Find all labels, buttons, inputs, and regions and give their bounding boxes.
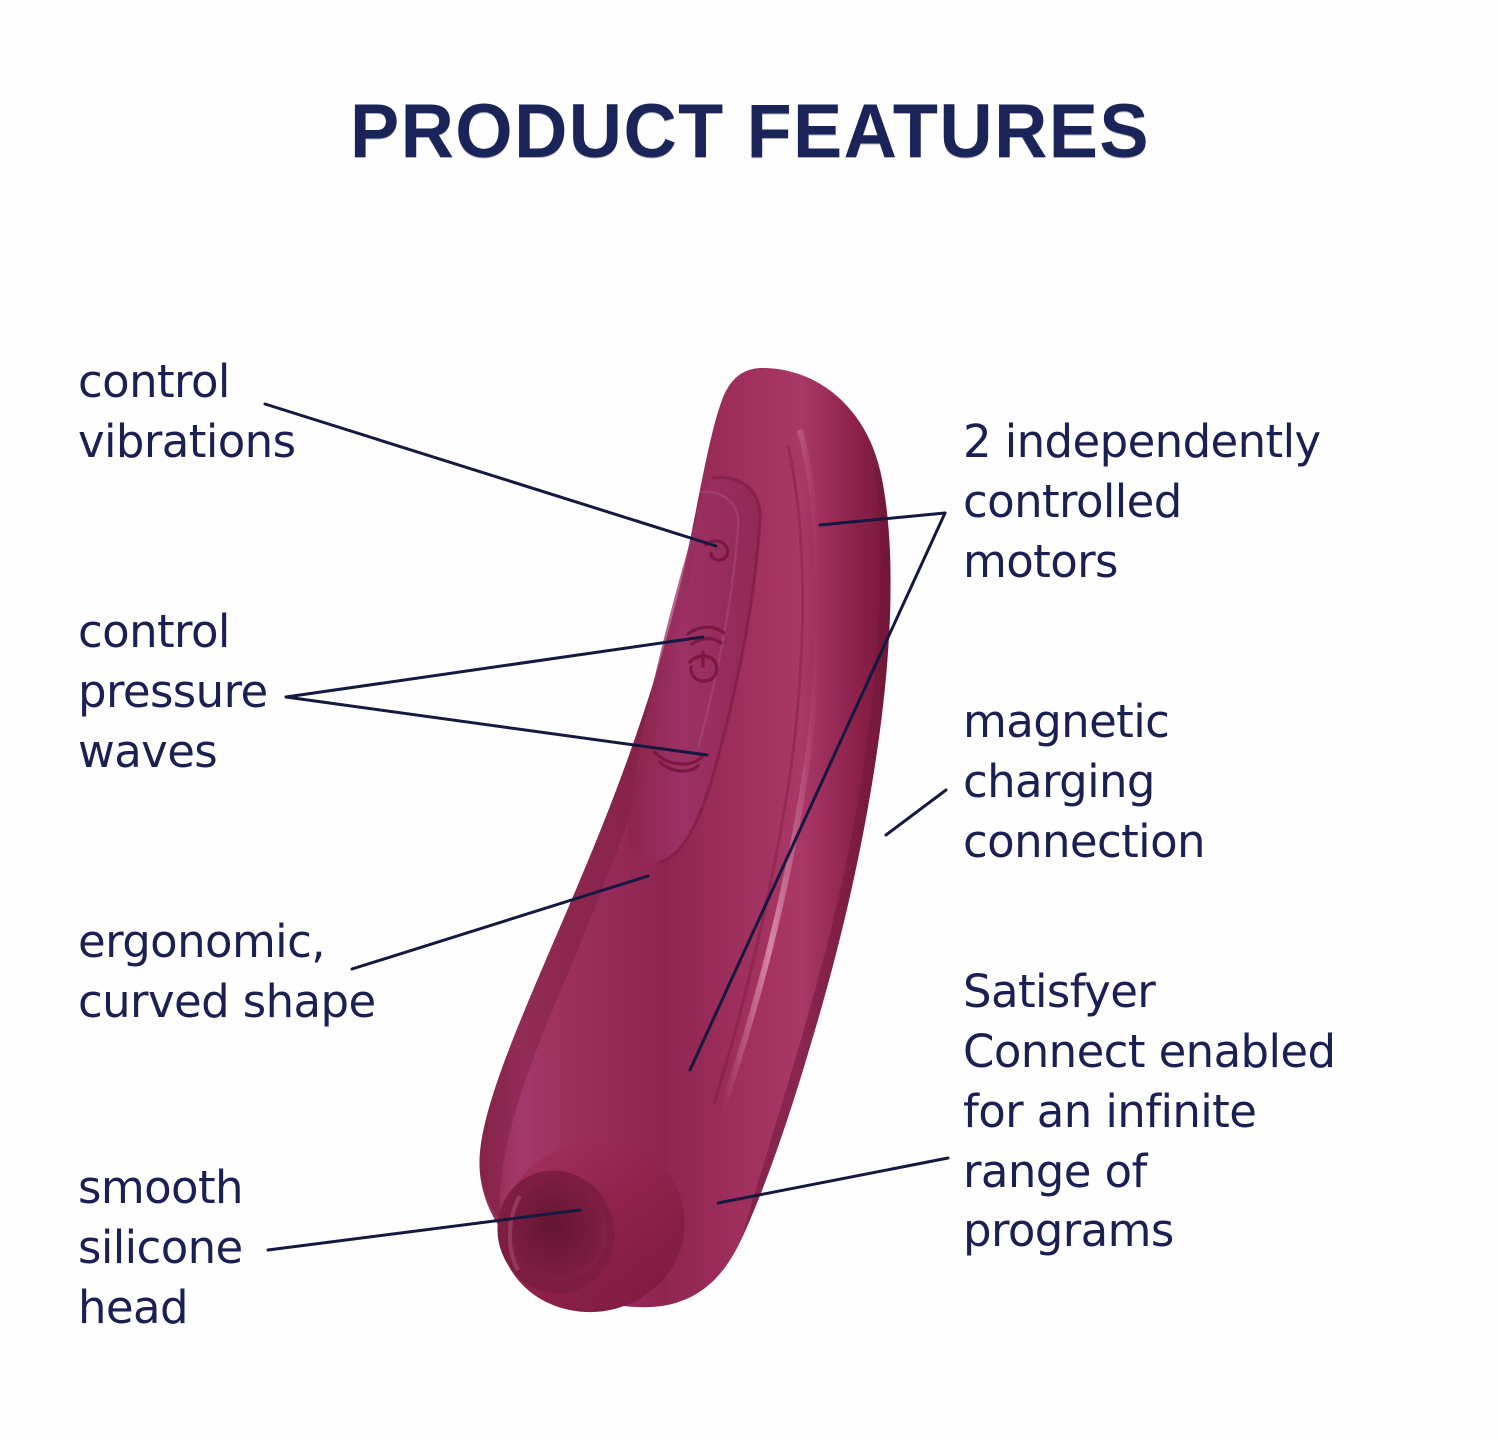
- label-ergonomic-curved-shape: ergonomic, curved shape: [78, 912, 376, 1032]
- label-satisfyer-connect-enabled: Satisfyer Connect enabled for an infinit…: [963, 962, 1335, 1261]
- product-features-infographic: PRODUCT FEATURES: [0, 0, 1500, 1439]
- label-control-pressure-waves: control pressure waves: [78, 602, 268, 782]
- label-magnetic-charging-connection: magnetic charging connection: [963, 692, 1205, 872]
- label-control-vibrations: control vibrations: [78, 352, 295, 472]
- label-two-independently-controlled-motors: 2 independently controlled motors: [963, 412, 1321, 592]
- label-smooth-silicone-head: smooth silicone head: [78, 1158, 243, 1338]
